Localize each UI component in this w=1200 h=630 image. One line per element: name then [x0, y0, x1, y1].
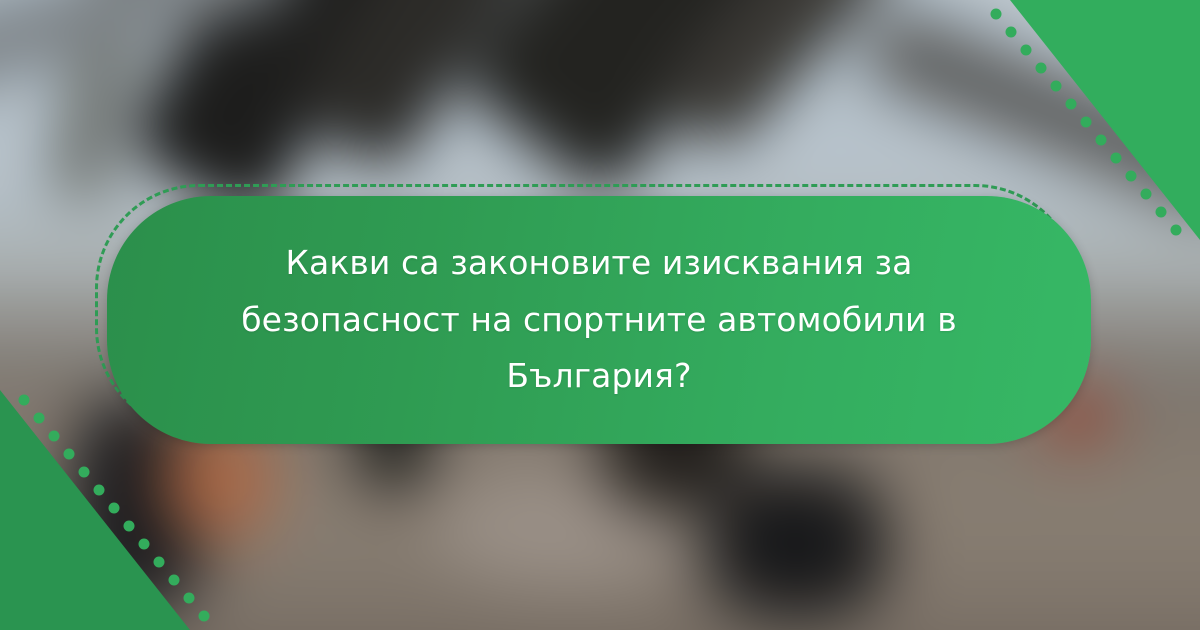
question-card: Какви са законовите изисквания за безопа… — [107, 196, 1091, 444]
social-card-canvas: Какви са законовите изисквания за безопа… — [0, 0, 1200, 630]
question-text: Какви са законовите изисквания за безопа… — [176, 235, 1022, 405]
background-blob — [706, 469, 886, 617]
card-body: Какви са законовите изисквания за безопа… — [107, 196, 1091, 444]
